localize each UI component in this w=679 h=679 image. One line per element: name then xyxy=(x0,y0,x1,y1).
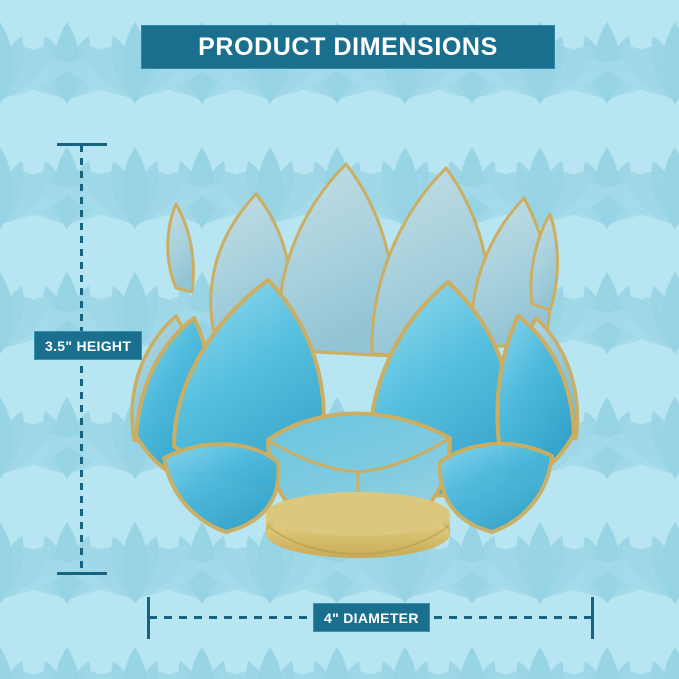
diameter-badge-label: 4" DIAMETER xyxy=(324,610,419,626)
diameter-badge: 4" DIAMETER xyxy=(313,603,430,632)
diameter-measurement: 4" DIAMETER xyxy=(147,597,594,639)
product-image-lotus-tea-light-holder xyxy=(120,140,590,570)
header-banner: PRODUCT DIMENSIONS xyxy=(141,25,555,69)
page-title: PRODUCT DIMENSIONS xyxy=(198,33,498,62)
diameter-cap-right-tick xyxy=(591,597,594,639)
height-badge-label: 3.5" HEIGHT xyxy=(45,338,131,354)
height-cap-bottom-tick xyxy=(57,572,107,575)
product-dimensions-infographic: PRODUCT DIMENSIONS xyxy=(0,0,679,679)
height-badge: 3.5" HEIGHT xyxy=(34,331,142,360)
product-gold-base xyxy=(266,492,450,558)
